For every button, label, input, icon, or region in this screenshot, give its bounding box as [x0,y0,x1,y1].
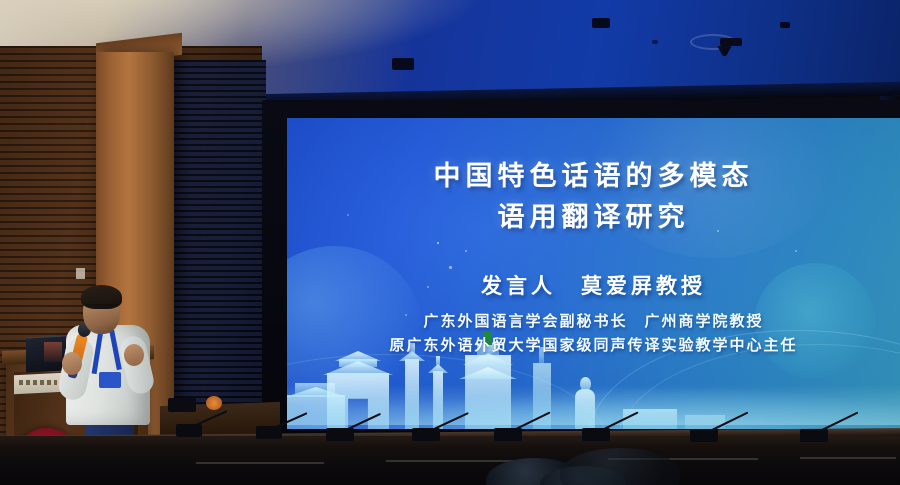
table-microphone-base [176,424,202,437]
table-microphone-base [412,428,440,441]
table-microphone-base [494,428,522,441]
table-microphone-base [326,428,354,441]
table-microphone-base [690,429,718,442]
table-microphone-base [582,428,610,441]
slide-affiliation-line2: 原广东外语外贸大学国家级同声传译实验教学中心主任 [287,334,900,355]
ceiling-fixture-icon [592,18,610,28]
slide-particle [437,242,439,244]
skyline-spire [436,356,440,365]
conference-hall-photo: 中国特色话语的多模态 语用翻译研究 发言人 莫爱屏教授 广东外国语言学会副秘书长… [0,0,900,485]
table-microphone-base [256,426,282,439]
slide-title-line1: 中国特色话语的多模态 [287,154,900,193]
side-table-lamp-icon [206,396,222,410]
wall-switch-plate[interactable] [76,268,85,279]
ceiling-fixture-icon [652,40,658,44]
slide-particle [795,250,797,252]
presenter-left-hand [62,352,82,375]
slide-title-line2: 语用翻译研究 [287,195,900,234]
slide-affiliation-line1: 广东外国语言学会副秘书长 广州商学院教授 [287,310,900,331]
presentation-screen: 中国特色话语的多模态 语用翻译研究 发言人 莫爱屏教授 广东外国语言学会副秘书长… [287,118,900,429]
table-microphone-base [800,429,828,442]
laptop-screen-glare [44,342,62,362]
presenter-badge [99,372,121,388]
presenter-right-hand [124,344,144,366]
slide-particle [449,266,452,269]
side-table-device [168,398,196,412]
ceiling-spotlight-icon [720,38,742,46]
ceiling-fixture-icon [780,22,790,28]
podium-name-card-text [19,380,57,385]
slide-foreground-wave [287,385,900,425]
table-panel-seam [196,462,324,464]
skyline-roof [428,364,448,373]
presenter-glasses-icon [86,304,117,313]
table-panel-seam [800,457,896,459]
slide-speaker-line: 发言人 莫爱屏教授 [287,270,900,300]
slide-particle [465,250,467,252]
ceiling-fixture-icon [392,58,414,70]
